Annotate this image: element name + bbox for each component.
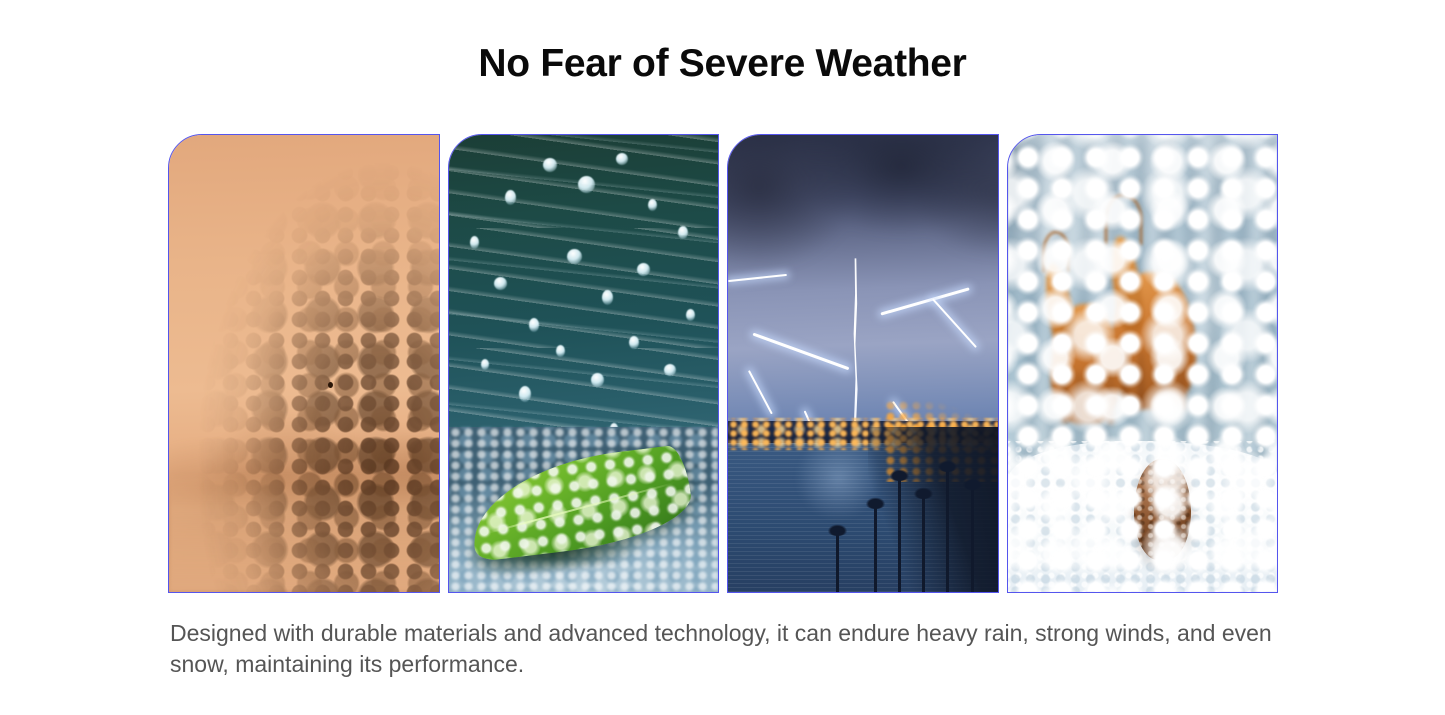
page-title: No Fear of Severe Weather [0, 42, 1445, 86]
feature-slide: No Fear of Severe Weather [0, 0, 1445, 715]
palm-tree-silhouette [922, 491, 925, 592]
palm-tree-silhouette [874, 501, 877, 592]
gallery-panel-heavy-rain[interactable] [448, 134, 720, 593]
weather-gallery [168, 134, 1278, 593]
palm-tree-silhouette [946, 464, 949, 592]
dust-particles [169, 135, 439, 592]
storm-clouds [728, 135, 998, 309]
gallery-panel-lightning-storm[interactable] [727, 134, 999, 593]
feature-description: Designed with durable materials and adva… [170, 618, 1280, 680]
gallery-panel-dust-storm[interactable] [168, 134, 440, 593]
leaf-scene [449, 427, 719, 592]
lightning-branch [752, 332, 849, 369]
palm-tree-silhouette [898, 473, 901, 592]
lightning-branch [748, 370, 773, 414]
gallery-panel-snowfall[interactable] [1007, 134, 1279, 593]
falling-snowflakes [1008, 135, 1278, 592]
heavy-rain-image [449, 135, 719, 592]
dust-storm-image [169, 135, 439, 592]
shoreline-silhouette [868, 427, 997, 592]
palm-tree-silhouette [971, 482, 974, 592]
snowfall-image [1008, 135, 1278, 592]
palm-tree-silhouette [836, 528, 839, 592]
dust-large-particle [328, 382, 333, 388]
lightning-storm-image [728, 135, 998, 592]
